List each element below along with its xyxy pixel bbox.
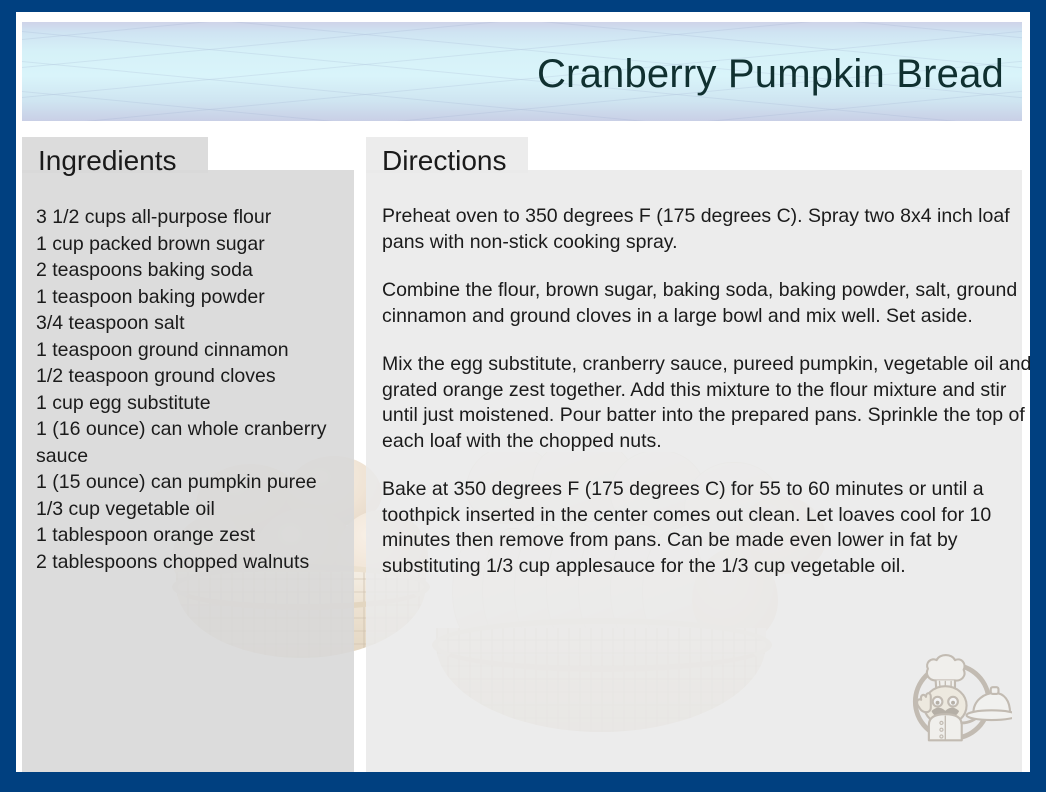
list-item: 1 (16 ounce) can whole cranberry sauce [36, 416, 354, 469]
title-banner: Cranberry Pumpkin Bread [22, 22, 1022, 121]
directions-body: Preheat oven to 350 degrees F (175 degre… [382, 204, 1030, 579]
list-item: 1/3 cup vegetable oil [36, 496, 354, 523]
ingredients-list: 3 1/2 cups all-purpose flour 1 cup packe… [36, 204, 354, 575]
list-item: 1 cup packed brown sugar [36, 231, 354, 258]
list-item: 1 teaspoon baking powder [36, 284, 354, 311]
list-item: 1/2 teaspoon ground cloves [36, 363, 354, 390]
ingredients-heading: Ingredients [38, 144, 177, 178]
direction-step: Preheat oven to 350 degrees F (175 degre… [382, 204, 1030, 255]
list-item: 3 1/2 cups all-purpose flour [36, 204, 354, 231]
list-item: 1 teaspoon ground cinnamon [36, 337, 354, 364]
chef-with-cloche-logo [896, 634, 1012, 750]
list-item: 3/4 teaspoon salt [36, 310, 354, 337]
list-item: 1 (15 ounce) can pumpkin puree [36, 469, 354, 496]
direction-step: Combine the flour, brown sugar, baking s… [382, 278, 1030, 329]
list-item: 1 cup egg substitute [36, 390, 354, 417]
card-inner-surface: Cranberry Pumpkin Bread [16, 12, 1030, 772]
list-item: 2 tablespoons chopped walnuts [36, 549, 354, 576]
list-item: 2 teaspoons baking soda [36, 257, 354, 284]
direction-step: Bake at 350 degrees F (175 degrees C) fo… [382, 477, 1030, 579]
recipe-card: Cranberry Pumpkin Bread [0, 0, 1046, 792]
directions-heading: Directions [382, 144, 506, 178]
direction-step: Mix the egg substitute, cranberry sauce,… [382, 352, 1030, 454]
list-item: 1 tablespoon orange zest [36, 522, 354, 549]
page-title: Cranberry Pumpkin Bread [537, 52, 1004, 96]
